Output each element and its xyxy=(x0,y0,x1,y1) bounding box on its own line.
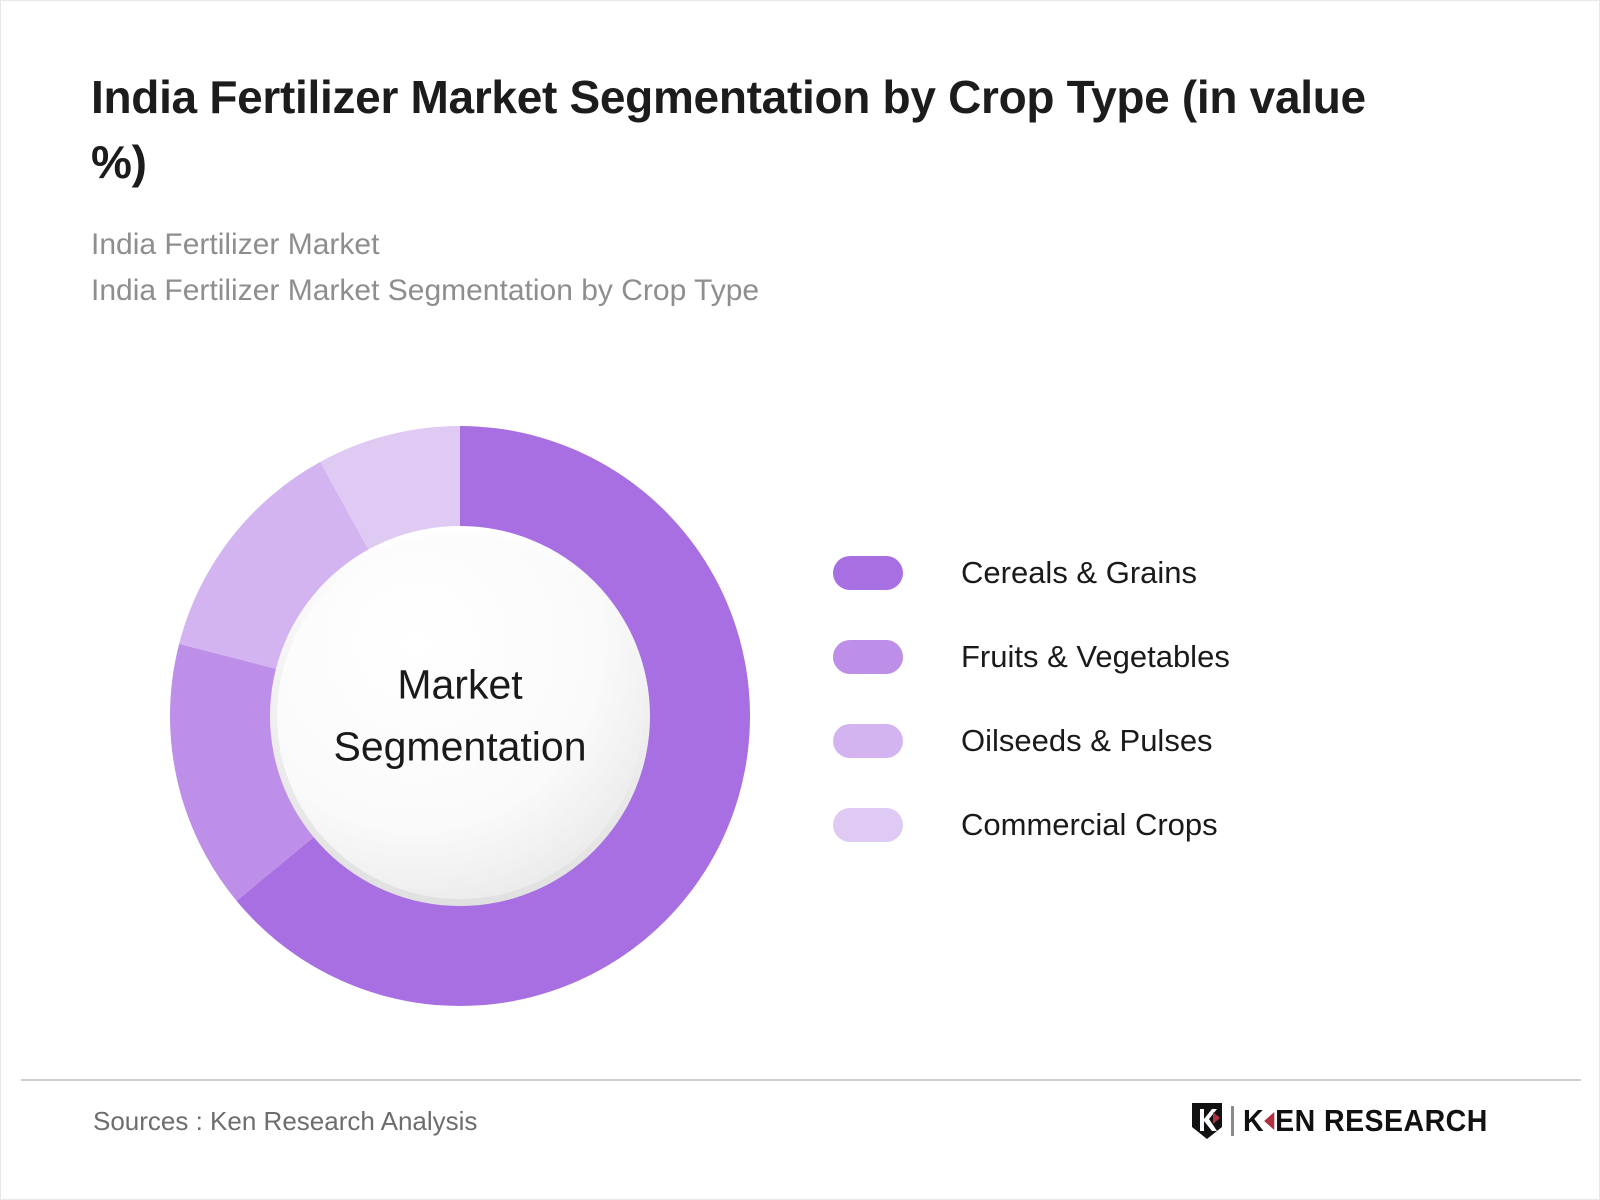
sources-text: Sources : Ken Research Analysis xyxy=(93,1106,477,1137)
legend-swatch-icon xyxy=(833,556,903,590)
footer: Sources : Ken Research Analysis KEN RESE… xyxy=(1,1079,1600,1199)
chart-area: Market Segmentation Cereals & Grains Fru… xyxy=(1,391,1600,1051)
logo-wordmark-tail: EN RESEARCH xyxy=(1275,1103,1488,1139)
legend-item-commercial-crops[interactable]: Commercial Crops xyxy=(833,783,1230,867)
logo-divider xyxy=(1231,1106,1234,1136)
legend-label: Oilseeds & Pulses xyxy=(961,723,1213,759)
logo-wordmark-head: K xyxy=(1243,1103,1264,1139)
legend-swatch-icon xyxy=(833,724,903,758)
chart-legend: Cereals & Grains Fruits & Vegetables Oil… xyxy=(833,531,1230,867)
legend-swatch-icon xyxy=(833,640,903,674)
legend-item-oilseeds-pulses[interactable]: Oilseeds & Pulses xyxy=(833,699,1230,783)
subtitle-block: India Fertilizer Market India Fertilizer… xyxy=(91,222,1421,315)
donut-hub xyxy=(277,533,643,899)
logo-wordmark: KEN RESEARCH xyxy=(1243,1103,1488,1139)
subtitle-line-2: India Fertilizer Market Segmentation by … xyxy=(91,268,1421,315)
header: India Fertilizer Market Segmentation by … xyxy=(91,65,1421,315)
legend-label: Commercial Crops xyxy=(961,807,1218,843)
legend-item-cereals-grains[interactable]: Cereals & Grains xyxy=(833,531,1230,615)
ken-shield-icon xyxy=(1190,1102,1224,1140)
ken-research-logo: KEN RESEARCH xyxy=(1190,1099,1509,1143)
legend-label: Cereals & Grains xyxy=(961,555,1197,591)
donut-svg xyxy=(170,426,750,1006)
legend-swatch-icon xyxy=(833,808,903,842)
page-title: India Fertilizer Market Segmentation by … xyxy=(91,65,1381,196)
subtitle-line-1: India Fertilizer Market xyxy=(91,222,1421,269)
legend-item-fruits-vegetables[interactable]: Fruits & Vegetables xyxy=(833,615,1230,699)
slide-canvas: India Fertilizer Market Segmentation by … xyxy=(0,0,1600,1200)
donut-chart: Market Segmentation xyxy=(170,426,750,1006)
legend-label: Fruits & Vegetables xyxy=(961,639,1230,675)
logo-accent-triangle-icon xyxy=(1264,1112,1274,1130)
